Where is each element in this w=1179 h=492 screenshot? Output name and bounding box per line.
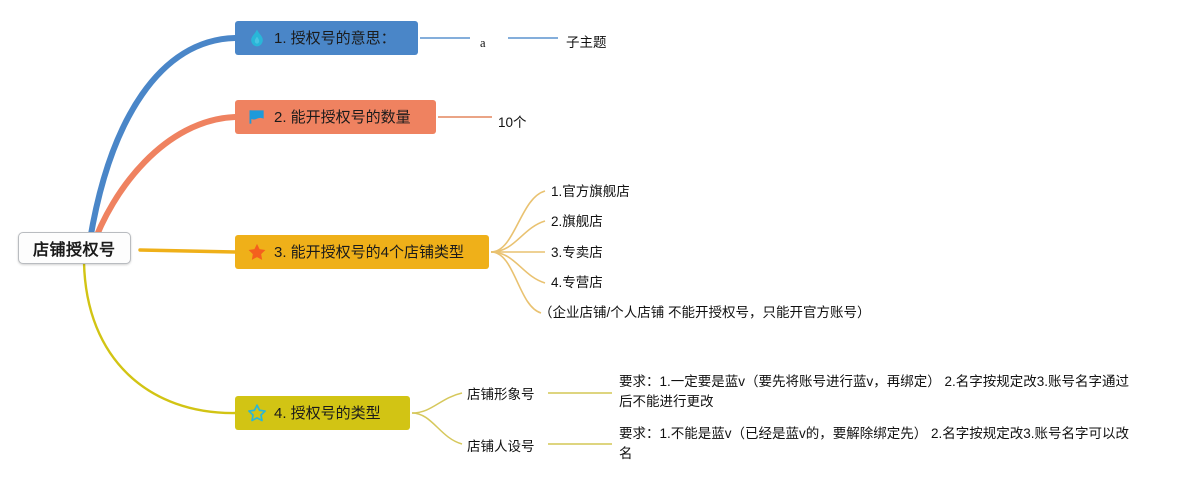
- mindmap-canvas: 店铺授权号 1. 授权号的意思： 2. 能开授权号的数量 3. 能开授权号的4个…: [0, 0, 1179, 492]
- trunk-link-4: [84, 262, 235, 413]
- branch-node-4-label: 4. 授权号的类型: [274, 406, 381, 421]
- leaf-shop-type-1[interactable]: 1.官方旗舰店: [551, 182, 630, 202]
- sub-link-4-1: [412, 393, 462, 413]
- trunk-link-1: [90, 38, 235, 240]
- branch-node-4[interactable]: 4. 授权号的类型: [235, 396, 410, 430]
- branch-node-1[interactable]: 1. 授权号的意思：: [235, 21, 418, 55]
- leaf-label-subtopic[interactable]: 子主题: [566, 33, 607, 53]
- leaf-shop-type-4[interactable]: 4.专营店: [551, 273, 603, 293]
- leaf-account-type-2[interactable]: 店铺人设号: [467, 437, 535, 457]
- branch-node-1-label: 1. 授权号的意思：: [274, 31, 396, 46]
- leaf-account-type-1-detail[interactable]: 要求：1.一定要是蓝v（要先将账号进行蓝v，再绑定） 2.名字按规定改3.账号名…: [619, 372, 1139, 411]
- trunk-link-3: [140, 250, 235, 252]
- leaf-label-count[interactable]: 10个: [498, 113, 527, 133]
- leaf-label-a[interactable]: a: [480, 34, 486, 52]
- sub-link-3-5: [491, 252, 541, 313]
- root-node[interactable]: 店铺授权号: [18, 232, 131, 264]
- branch-node-3-label: 3. 能开授权号的4个店铺类型: [274, 245, 464, 260]
- root-node-label: 店铺授权号: [33, 236, 116, 260]
- branch-node-3[interactable]: 3. 能开授权号的4个店铺类型: [235, 235, 489, 269]
- sub-link-3-1: [491, 191, 545, 252]
- sub-link-3-2: [491, 221, 545, 252]
- star-filled-icon: [247, 242, 267, 262]
- sub-link-4-2: [412, 413, 462, 444]
- trunk-link-2: [92, 117, 235, 248]
- branch-node-2-label: 2. 能开授权号的数量: [274, 110, 411, 125]
- leaf-shop-type-3[interactable]: 3.专卖店: [551, 243, 603, 263]
- leaf-shop-type-2[interactable]: 2.旗舰店: [551, 212, 603, 232]
- leaf-account-type-1[interactable]: 店铺形象号: [467, 385, 535, 405]
- flag-icon: [247, 107, 267, 127]
- sub-link-3-4: [491, 252, 545, 283]
- branch-node-2[interactable]: 2. 能开授权号的数量: [235, 100, 436, 134]
- leaf-account-type-2-detail[interactable]: 要求：1.不能是蓝v（已经是蓝v的，要解除绑定先） 2.名字按规定改3.账号名字…: [619, 424, 1139, 463]
- flame-icon: [247, 28, 267, 48]
- star-outline-icon: [247, 403, 267, 423]
- leaf-shop-type-note[interactable]: （企业店铺/个人店铺 不能开授权号，只能开官方账号）: [539, 303, 871, 323]
